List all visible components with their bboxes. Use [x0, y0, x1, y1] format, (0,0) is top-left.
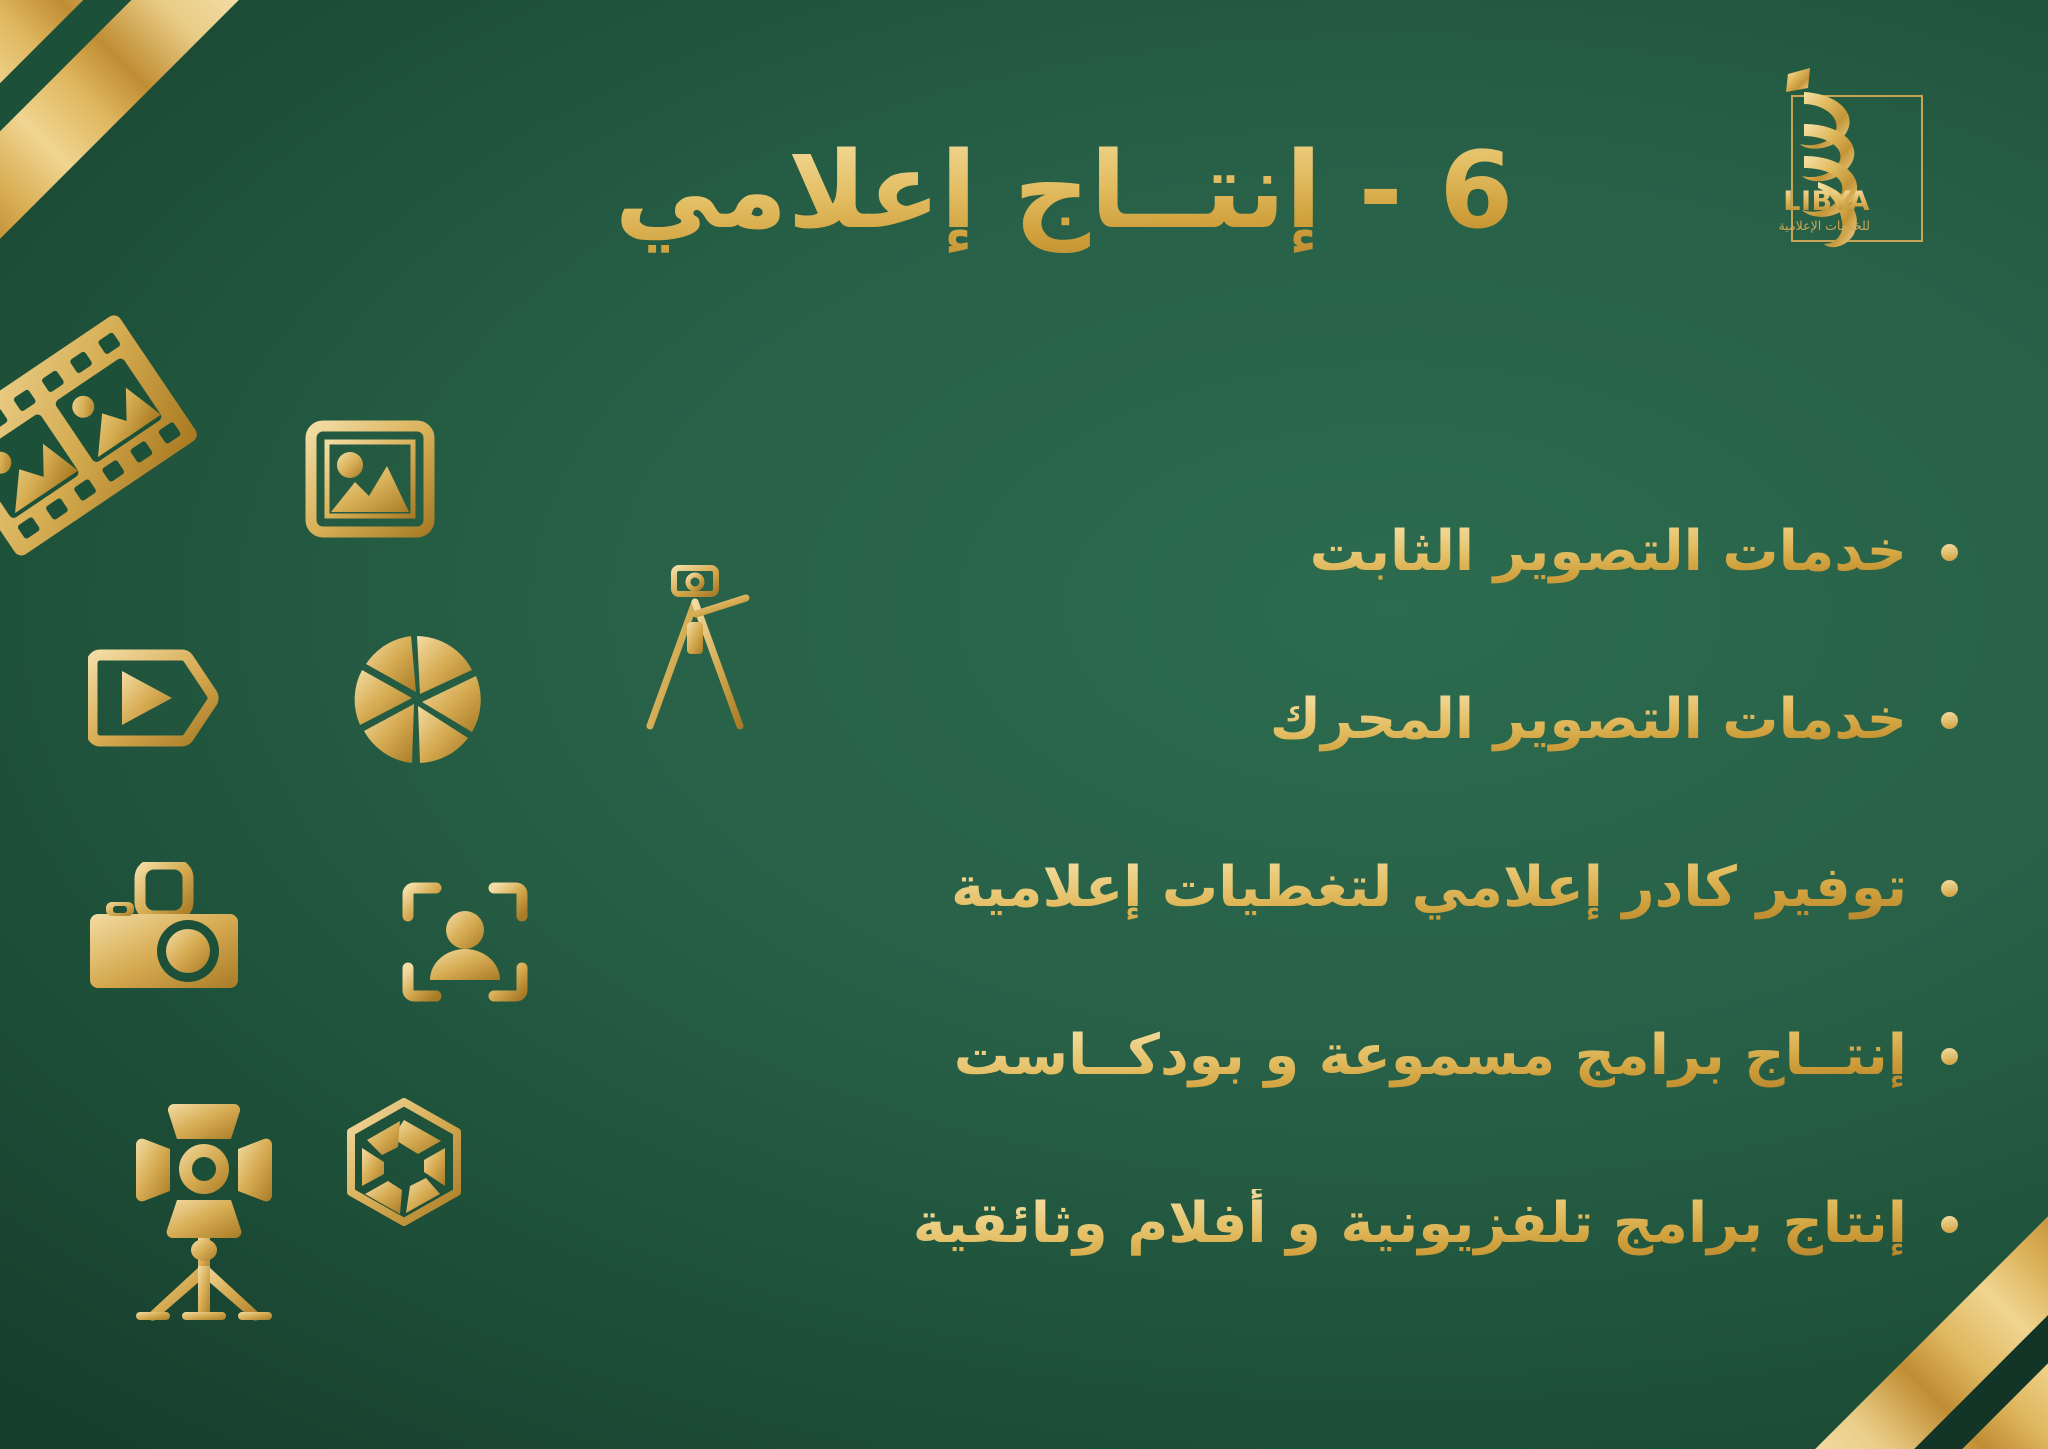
studio-light-icon — [130, 1098, 278, 1323]
logo-wordmark: NOUR LIBYA — [1774, 186, 1870, 217]
film-strip-icon — [0, 284, 224, 591]
list-item-label: إنتــاج برامج مسموعة و بودكــاست — [954, 1021, 1907, 1091]
hexagon-aperture-icon — [340, 1098, 468, 1226]
list-item: خدمات التصوير الثابت — [700, 468, 1958, 636]
image-photo-icon — [305, 420, 435, 538]
list-item: إنتــاج برامج مسموعة و بودكــاست — [700, 972, 1958, 1140]
bullet-dot-icon — [1941, 1048, 1958, 1065]
camera-shutter-icon — [350, 632, 485, 767]
nour-libya-logo: NOUR LIBYA للخدمات الإعلامية و التسويقية — [1774, 58, 2006, 258]
services-list: خدمات التصوير الثابت خدمات التصوير المحر… — [700, 468, 1958, 1308]
page-title: 6 - إنتــاج إعلامي — [380, 128, 1748, 253]
presentation-slide: NOUR LIBYA للخدمات الإعلامية و التسويقية… — [0, 0, 2048, 1449]
dslr-camera-icon — [88, 862, 240, 998]
list-item: إنتاج برامج تلفزيونية و أفلام وثائقية — [700, 1140, 1958, 1308]
list-item-label: خدمات التصوير المحرك — [1270, 685, 1907, 755]
list-item-label: خدمات التصوير الثابت — [1310, 517, 1907, 587]
list-item: خدمات التصوير المحرك — [700, 636, 1958, 804]
video-play-icon — [88, 635, 228, 761]
list-item-label: إنتاج برامج تلفزيونية و أفلام وثائقية — [913, 1189, 1907, 1259]
logo-tagline: للخدمات الإعلامية و التسويقية — [1774, 218, 1870, 234]
bullet-dot-icon — [1941, 880, 1958, 897]
bullet-dot-icon — [1941, 712, 1958, 729]
top-left-gold-ribbon — [0, 0, 289, 254]
bullet-dot-icon — [1941, 544, 1958, 561]
portrait-focus-icon — [400, 880, 530, 1004]
list-item-label: توفير كادر إعلامي لتغطيات إعلامية — [951, 853, 1907, 923]
bullet-dot-icon — [1941, 1216, 1958, 1233]
list-item: توفير كادر إعلامي لتغطيات إعلامية — [700, 804, 1958, 972]
title-area: 6 - إنتــاج إعلامي — [380, 128, 1748, 253]
